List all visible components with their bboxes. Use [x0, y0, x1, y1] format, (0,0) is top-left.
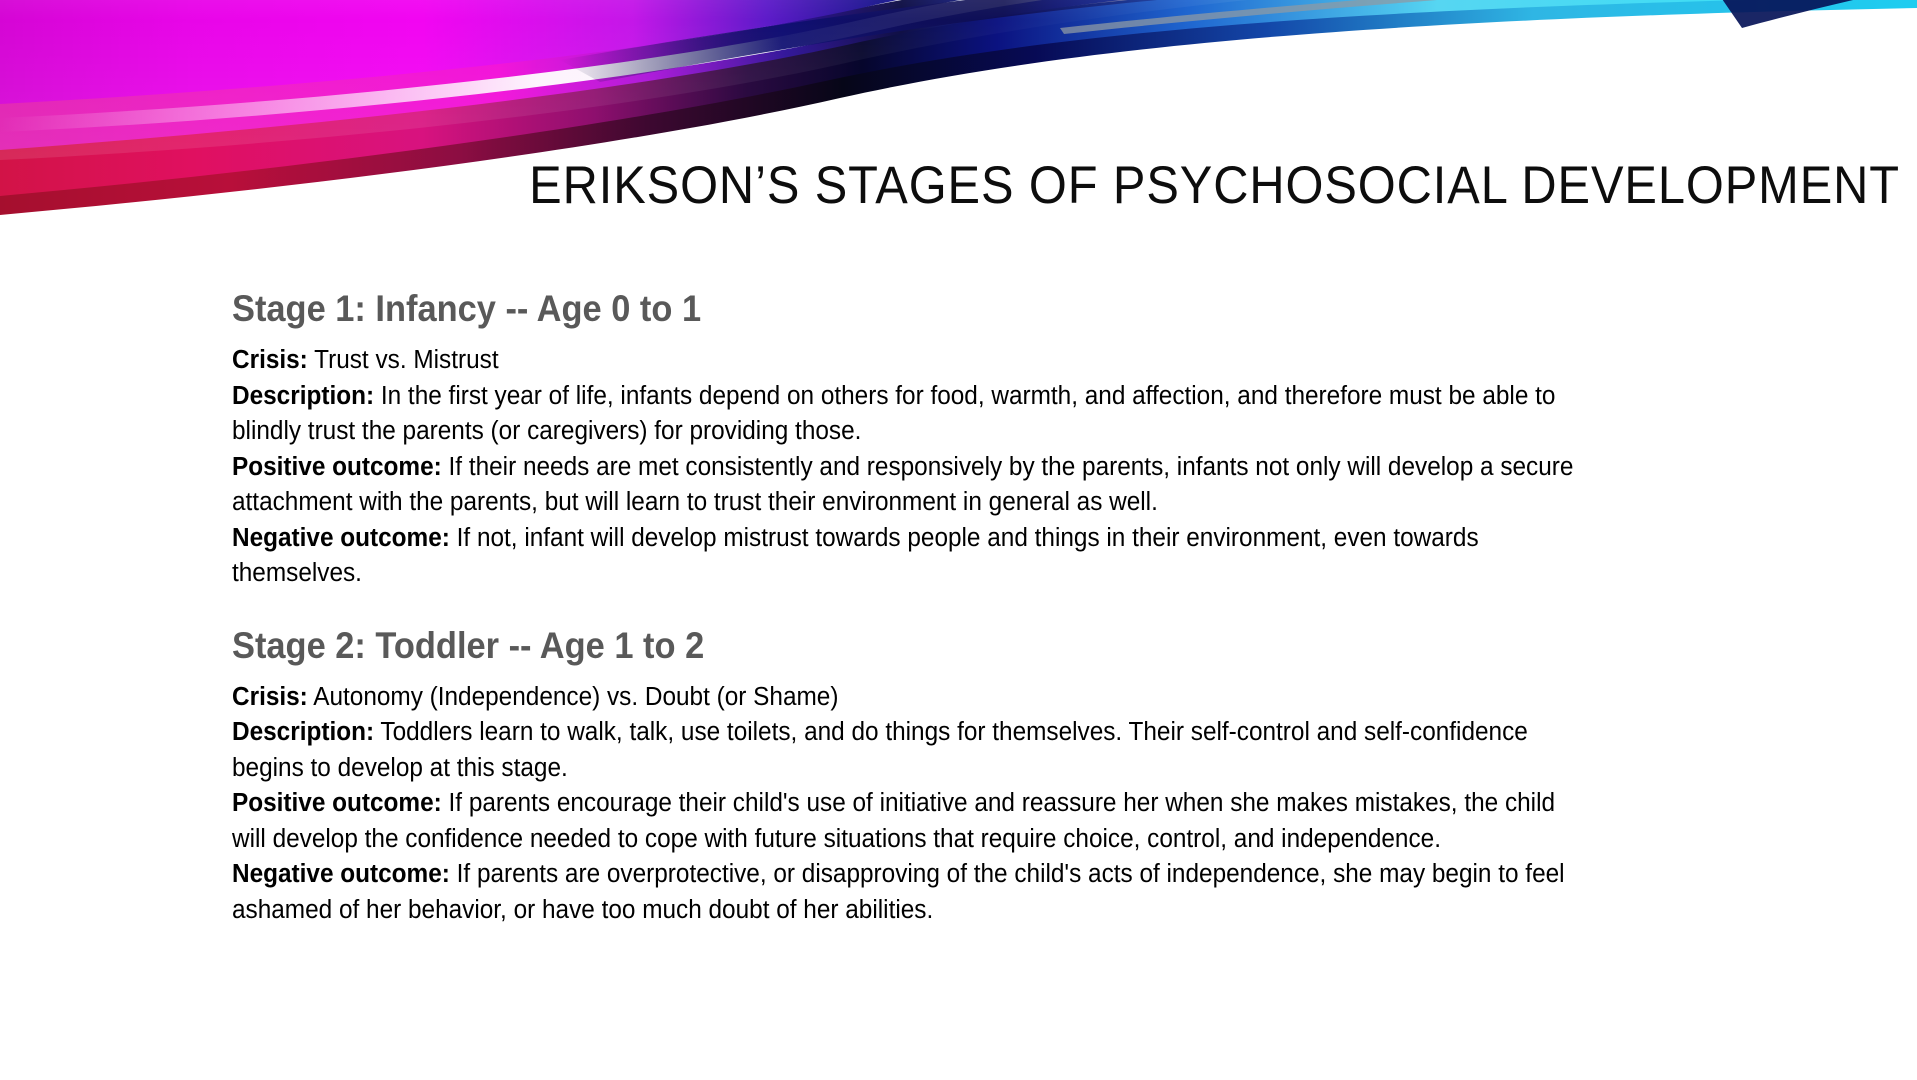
stage-1-negative-outcome-label: Negative outcome:	[232, 524, 450, 552]
stage-2-description: Description: Toddlers learn to walk, tal…	[232, 715, 1588, 786]
wave-sheen	[0, 0, 1917, 160]
stage-2-description-text: Toddlers learn to walk, talk, use toilet…	[232, 718, 1528, 782]
wave-band-mid	[0, 0, 1917, 150]
stage-1-crisis: Crisis: Trust vs. Mistrust	[232, 343, 1588, 379]
slide-canvas: ERIKSON’S STAGES OF PSYCHOSOCIAL DEVELOP…	[0, 0, 1917, 1080]
stage-block-2: Stage 2: Toddler -- Age 1 to 2 Crisis: A…	[232, 620, 1592, 929]
stage-2-negative-outcome: Negative outcome: If parents are overpro…	[232, 857, 1588, 928]
wave-white-streak	[0, 0, 1917, 132]
slide-body: Stage 1: Infancy -- Age 0 to 1 Crisis: T…	[232, 283, 1592, 934]
stage-1-description-text: In the first year of life, infants depen…	[232, 382, 1555, 446]
stage-block-1: Stage 1: Infancy -- Age 0 to 1 Crisis: T…	[232, 283, 1592, 592]
stage-1-positive-outcome: Positive outcome: If their needs are met…	[232, 450, 1588, 521]
stage-1-negative-outcome: Negative outcome: If not, infant will de…	[232, 521, 1588, 592]
stage-2-heading: Stage 2: Toddler -- Age 1 to 2	[232, 620, 1497, 672]
stage-2-crisis-text: Autonomy (Independence) vs. Doubt (or Sh…	[308, 683, 839, 711]
stage-2-crisis-label: Crisis:	[232, 683, 308, 711]
wave-band-top	[0, 0, 1917, 104]
wave-hairline	[1060, 0, 1917, 34]
stage-2-crisis: Crisis: Autonomy (Independence) vs. Doub…	[232, 680, 1588, 716]
stage-2-negative-outcome-label: Negative outcome:	[232, 860, 450, 888]
wave-navy-stripe	[560, 0, 1300, 82]
stage-1-crisis-text: Trust vs. Mistrust	[308, 346, 499, 374]
stage-1-description-label: Description:	[232, 382, 374, 410]
stage-2-positive-outcome-label: Positive outcome:	[232, 789, 442, 817]
stage-2-positive-outcome: Positive outcome: If parents encourage t…	[232, 786, 1588, 857]
stage-1-crisis-label: Crisis:	[232, 346, 308, 374]
page-title: ERIKSON’S STAGES OF PSYCHOSOCIAL DEVELOP…	[465, 155, 1900, 217]
stage-1-heading: Stage 1: Infancy -- Age 0 to 1	[232, 283, 1497, 335]
stage-1-positive-outcome-label: Positive outcome:	[232, 453, 442, 481]
stage-1-description: Description: In the first year of life, …	[232, 379, 1588, 450]
stage-2-description-label: Description:	[232, 718, 374, 746]
wave-navy-stripe-right	[1720, 0, 1917, 28]
